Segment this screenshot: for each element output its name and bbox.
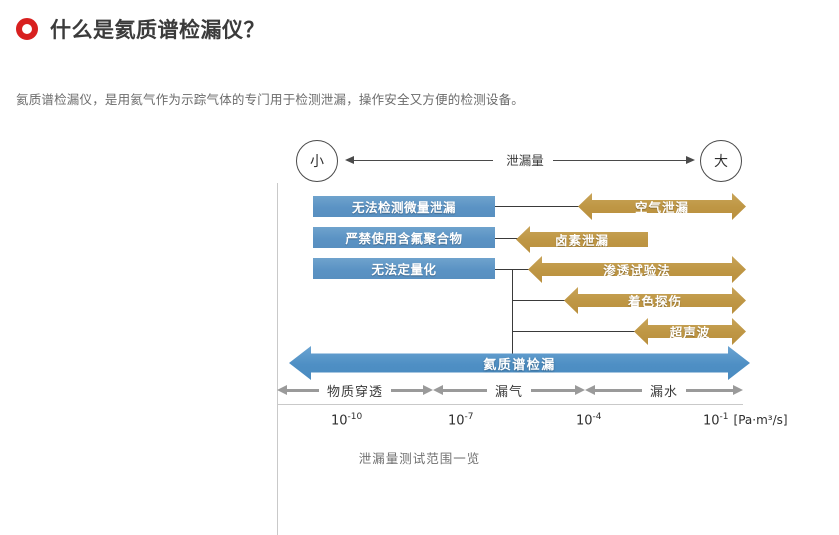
axis-tick-exponent: -7 — [465, 412, 474, 422]
scale-circle-large: 大 — [700, 140, 742, 182]
axis-tick-exponent: -4 — [593, 412, 602, 422]
method-arrow: 超声波 — [634, 318, 746, 345]
range-segment: 漏气 — [433, 379, 585, 401]
scale-line-right — [553, 160, 687, 161]
axis-tick-base: 10 — [576, 413, 593, 428]
range-label: 漏气 — [487, 381, 531, 400]
axis-tick-base: 10 — [703, 413, 720, 428]
diagram-caption: 泄漏量测试范围一览 — [0, 448, 839, 467]
axis-tick: 10-10 — [331, 412, 362, 428]
method-arrow: 着色探伤 — [564, 287, 746, 314]
range-arrow-right-icon — [686, 387, 743, 393]
scale-double-arrow: 泄漏量 — [345, 160, 695, 161]
scale-circle-small: 小 — [296, 140, 338, 182]
axis-horizontal-line — [277, 404, 743, 405]
limitation-box: 无法定量化 — [313, 258, 495, 279]
range-arrow-right-icon — [391, 387, 433, 393]
range-segment: 物质穿透 — [277, 379, 433, 401]
connector-line — [512, 269, 513, 359]
range-label: 漏水 — [642, 381, 686, 400]
main-method-arrow: 氦质谱检漏 — [289, 346, 750, 380]
axis-tick-exponent: -10 — [348, 412, 363, 422]
connector-line — [495, 206, 584, 207]
connector-line — [512, 300, 570, 301]
scale-label: 泄漏量 — [495, 150, 555, 169]
red-ring-bullet-icon — [16, 18, 38, 40]
axis-tick: 10-7 — [448, 412, 474, 428]
range-row: 物质穿透 漏气 漏水 — [277, 379, 743, 401]
scale-line-left — [353, 160, 493, 161]
axis-tick-exponent: -1 — [720, 412, 729, 422]
method-arrow: 空气泄漏 — [578, 193, 746, 220]
page-title-text: 什么是氦质谱检漏仪？ — [50, 14, 265, 44]
method-arrow: 卤素泄漏 — [516, 226, 648, 253]
range-arrow-right-icon — [531, 387, 585, 393]
limitation-box: 无法检测微量泄漏 — [313, 196, 495, 217]
range-arrow-left-icon — [585, 387, 642, 393]
range-segment: 漏水 — [585, 379, 743, 401]
axis-tick-base: 10 — [331, 413, 348, 428]
arrow-head-right-icon — [686, 156, 695, 164]
page-title: 什么是氦质谱检漏仪？ — [16, 14, 265, 44]
method-arrow: 渗透试验法 — [528, 256, 746, 283]
axis-vertical-line — [277, 183, 278, 535]
leak-rate-diagram: 小 大 泄漏量 无法检测微量泄漏 严禁使用含氟聚合物 无法定量化 空气泄漏 卤素… — [0, 128, 839, 470]
axis-tick-base: 10 — [448, 413, 465, 428]
axis-tick: 10-4 — [576, 412, 602, 428]
range-arrow-left-icon — [433, 387, 487, 393]
range-arrow-left-icon — [277, 387, 319, 393]
connector-line — [512, 331, 640, 332]
limitation-box: 严禁使用含氟聚合物 — [313, 227, 495, 248]
axis-unit-label: [Pa·m³/s] — [734, 413, 788, 427]
intro-paragraph: 氦质谱检漏仪，是用氦气作为示踪气体的专门用于检测泄漏，操作安全又方便的检测设备。 — [16, 89, 524, 108]
range-label: 物质穿透 — [319, 381, 391, 400]
axis-tick: 10-1[Pa·m³/s] — [703, 412, 788, 428]
